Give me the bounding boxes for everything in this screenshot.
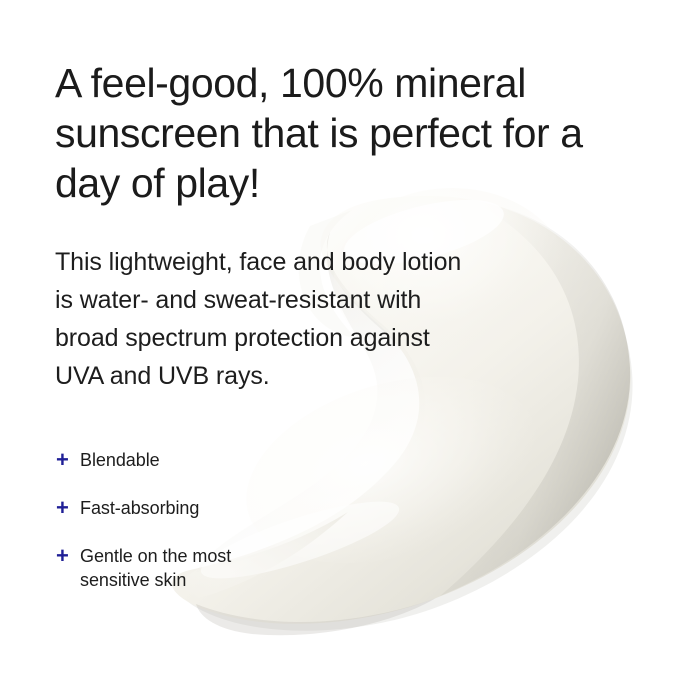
benefit-label: Gentle on the most sensitive skin — [80, 544, 231, 592]
plus-icon: + — [56, 544, 80, 568]
product-description-panel: A feel-good, 100% mineral sunscreen that… — [0, 0, 679, 679]
plus-icon: + — [56, 496, 80, 520]
product-description: This lightweight, face and body lotion i… — [55, 243, 475, 395]
page-title: A feel-good, 100% mineral sunscreen that… — [55, 58, 585, 208]
plus-icon: + — [56, 448, 80, 472]
benefit-label: Fast-absorbing — [80, 496, 199, 520]
benefits-list: + Blendable + Fast-absorbing + Gentle on… — [56, 448, 356, 592]
copy-block: A feel-good, 100% mineral sunscreen that… — [55, 58, 655, 208]
list-item: + Fast-absorbing — [56, 496, 356, 520]
list-item: + Gentle on the most sensitive skin — [56, 544, 356, 592]
benefit-label: Blendable — [80, 448, 160, 472]
list-item: + Blendable — [56, 448, 356, 472]
